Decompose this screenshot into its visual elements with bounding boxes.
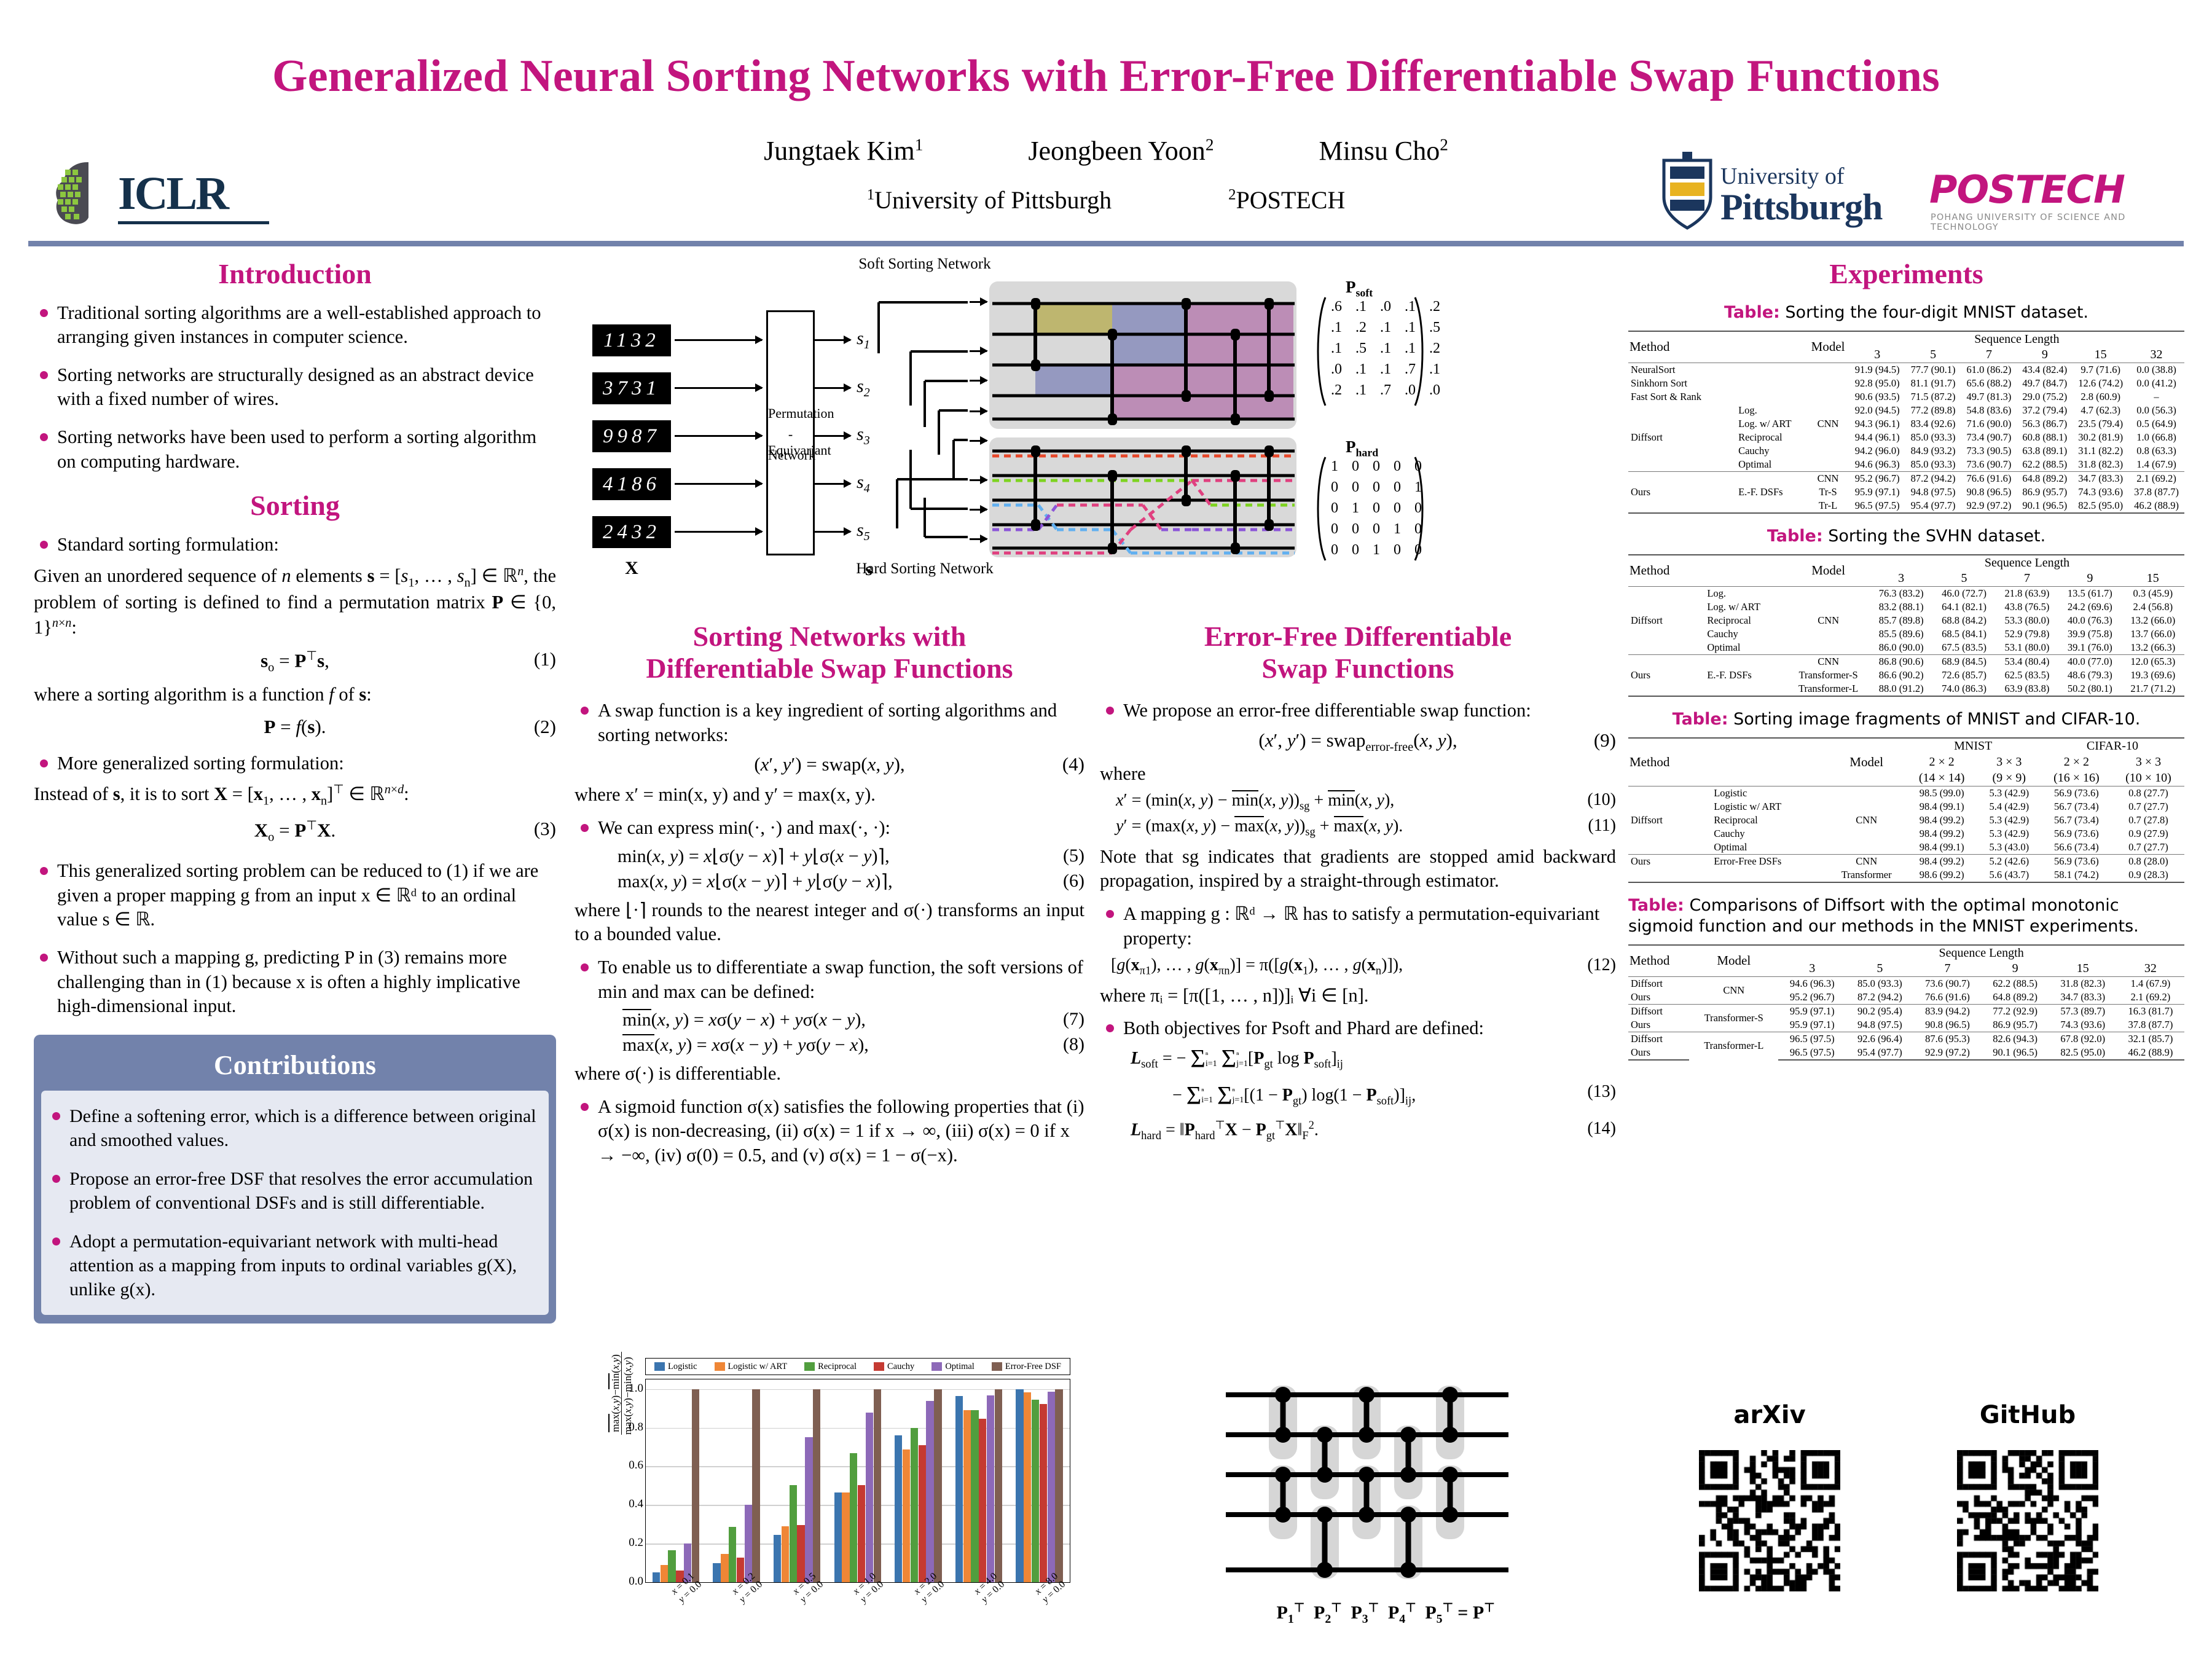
legend-item[interactable]: Logistic w/ ART xyxy=(715,1362,788,1372)
table-cell: 34.7 (83.3) xyxy=(2049,990,2117,1005)
table-row: OursError-Free DSFsCNN98.4 (99.2)5.2 (42… xyxy=(1628,854,2184,868)
list-item: A sigmoid function σ(x) satisfies the fo… xyxy=(575,1095,1084,1168)
table-cell: 46.0 (72.7) xyxy=(1932,586,1995,600)
table-cell: 63.8 (89.1) xyxy=(2017,444,2073,458)
table-cell: 56.9 (73.6) xyxy=(2041,827,2112,841)
bar xyxy=(911,1428,918,1582)
table-cell: 24.2 (69.6) xyxy=(2058,600,2121,614)
table-cell: 87.6 (95.3) xyxy=(1913,1032,1981,1046)
architecture-diagram: Soft Sorting Network Hard Sorting Networ… xyxy=(584,264,1505,584)
equation-13-number: (13) xyxy=(1587,1081,1616,1102)
equation-6-number: (6) xyxy=(1063,871,1084,892)
table-row: Cauchy85.5 (89.6)68.5 (84.1)52.9 (79.8)3… xyxy=(1628,627,2184,641)
table-subheader-row-2: (14 × 14)(9 × 9)(16 × 16)(10 × 10) xyxy=(1628,771,2184,786)
author-1-sup: 1 xyxy=(915,135,924,154)
input-image-1: 1132 xyxy=(592,324,671,356)
equation-10: x′ = (min(x, y) − min(x, y))sg + min(x, … xyxy=(1100,790,1616,813)
equation-1: so = P⊤s, (1) xyxy=(34,648,556,675)
bar xyxy=(874,1389,881,1582)
table-cell: (16 × 16) xyxy=(2041,771,2112,786)
table-cell: 49.7 (81.3) xyxy=(1961,390,2017,404)
table-cell: Diffsort xyxy=(1628,1032,1689,1046)
y-axis-tick: 0.6 xyxy=(629,1459,643,1472)
sorting-network-decomposition-diagram: P1⊤ P2⊤ P3⊤ P4⊤ P5⊤ = P⊤ xyxy=(1220,1373,1551,1631)
score-var-3: s3 xyxy=(857,424,870,448)
arrow-route-5 xyxy=(970,440,987,442)
bar xyxy=(692,1389,699,1582)
table4-caption: Table: Comparisons of Diffsort with the … xyxy=(1628,895,2184,937)
arrow-input-2 xyxy=(675,387,762,389)
table-cell: 86.9 (95.7) xyxy=(2017,485,2073,499)
table-cell xyxy=(1628,827,1692,841)
bar xyxy=(963,1410,971,1582)
matrix-cell: 0 xyxy=(1345,539,1366,560)
table-cell xyxy=(1827,827,1906,841)
table-cell: 12.0 (65.3) xyxy=(2122,654,2184,669)
table-cell: Reciprocal xyxy=(1685,614,1787,627)
table-cell xyxy=(1692,771,1827,786)
table-cell xyxy=(1628,868,1692,882)
table-cell: 58.1 (74.2) xyxy=(2041,868,2112,882)
soft-network-graphic xyxy=(989,281,1296,429)
postech-tagline: POHANG UNIVERSITY OF SCIENCE AND TECHNOL… xyxy=(1931,213,2187,232)
list-item: Without such a mapping g, predicting P i… xyxy=(34,946,556,1019)
table-cell: Cauchy xyxy=(1692,827,1827,841)
arxiv-label: arXiv xyxy=(1647,1401,1892,1429)
introduction-bullets: Traditional sorting algorithms are a wel… xyxy=(34,301,556,474)
table-cell xyxy=(1716,331,1806,363)
matrix-cell: 0 xyxy=(1324,498,1345,519)
table-cell xyxy=(1806,444,1849,458)
table-row: Optimal94.6 (96.3)85.0 (93.3)73.6 (90.7)… xyxy=(1628,458,2184,472)
legend-item[interactable]: Cauchy xyxy=(874,1362,914,1372)
matrix-cell: 0 xyxy=(1324,477,1345,498)
equation-4: (x′, y′) = swap(x, y), (4) xyxy=(575,753,1084,775)
table-header-row: MNISTCIFAR-10 xyxy=(1628,738,2184,754)
table-cell: (14 × 14) xyxy=(1906,771,1978,786)
legend-item[interactable]: Logistic xyxy=(654,1362,697,1372)
contributions-heading: Contributions xyxy=(41,1042,549,1091)
table-cell: 56.3 (86.7) xyxy=(2017,417,2073,431)
table-cell: 73.6 (90.7) xyxy=(1961,458,2017,472)
contributions-inner: Define a softening error, which is a dif… xyxy=(41,1091,549,1315)
table-cell: CNN xyxy=(1806,471,1849,485)
table-cell: 72.6 (85.7) xyxy=(1932,669,1995,682)
table-row: Log. w/ ART83.2 (88.1)64.1 (82.1)43.8 (7… xyxy=(1628,600,2184,614)
table-cell: 34.7 (83.3) xyxy=(2073,471,2128,485)
table-cell: 15 xyxy=(2049,961,2117,977)
table-cell: 85.0 (93.3) xyxy=(1905,458,1961,472)
table-cell: 0.9 (28.3) xyxy=(2112,868,2184,882)
table-row: Logistic w/ ART98.4 (99.1)5.4 (42.9)56.7… xyxy=(1628,800,2184,814)
table-cell: 53.3 (80.0) xyxy=(1996,614,2058,627)
section-heading-introduction: Introduction xyxy=(34,258,556,290)
sorting-paragraph-1: Given an unordered sequence of n element… xyxy=(34,563,556,640)
postech-logo: POSTECH POHANG UNIVERSITY OF SCIENCE AND… xyxy=(1929,167,2187,231)
table-cell xyxy=(1787,627,1870,641)
snw-bullet-3: To enable us to differentiate a swap fun… xyxy=(575,955,1084,1004)
table-cell: 39.1 (76.0) xyxy=(2058,641,2121,655)
table-cell: 74.0 (86.3) xyxy=(1932,682,1995,696)
table-cell xyxy=(1628,786,1692,800)
matrix-cell: .1 xyxy=(1373,317,1398,338)
table3-caption: Table: Sorting image fragments of MNIST … xyxy=(1628,709,2184,730)
table-cell: 5 xyxy=(1905,347,1961,363)
table-cell: 23.5 (79.4) xyxy=(2073,417,2128,431)
input-label-X: X xyxy=(592,558,671,579)
table-row: DiffsortCNN94.6 (96.3)85.0 (93.3)73.6 (9… xyxy=(1628,976,2184,990)
arxiv-qr-code[interactable] xyxy=(1699,1450,1840,1591)
table-cell: 5 xyxy=(1846,961,1913,977)
table-cell: 3 × 3 xyxy=(1978,754,2041,771)
legend-item[interactable]: Reciprocal xyxy=(804,1362,857,1372)
table-cell: Ours xyxy=(1628,1046,1689,1060)
table-cell: 77.2 (89.8) xyxy=(1905,404,1961,417)
table-header-row: MethodModelSequence Length xyxy=(1628,555,2184,571)
author-2: Jeongbeen Yoon2 xyxy=(1028,135,1214,167)
header-divider xyxy=(28,241,2184,246)
legend-label: Error-Free DSF xyxy=(1005,1362,1061,1372)
table-cell: 9 xyxy=(2017,347,2073,363)
table-cell: 56.9 (73.6) xyxy=(2041,786,2112,800)
matrix-cell: 0 xyxy=(1387,456,1408,477)
legend-swatch xyxy=(715,1362,725,1371)
table-cell xyxy=(1685,555,1787,587)
table-cell xyxy=(1806,377,1849,390)
table-cell: 95.4 (97.7) xyxy=(1905,499,1961,513)
table-cell: CNN xyxy=(1787,614,1870,627)
table-cell: 13.2 (66.3) xyxy=(2122,641,2184,655)
sorting-bullets-2: This generalized sorting problem can be … xyxy=(34,859,556,1019)
table-cell: 13.5 (61.7) xyxy=(2058,586,2121,600)
bar xyxy=(661,1565,668,1582)
table-cell: 32.1 (85.7) xyxy=(2117,1032,2184,1046)
table-cell: Diffsort xyxy=(1628,1004,1689,1018)
table-row: Cauchy94.2 (96.0)84.9 (93.2)73.3 (90.5)6… xyxy=(1628,444,2184,458)
table-cell: 21.8 (63.9) xyxy=(1996,586,2058,600)
table-cell: 9.7 (71.6) xyxy=(2073,363,2128,377)
table-row: Transformer-L88.0 (91.2)74.0 (86.3)63.9 … xyxy=(1628,682,2184,696)
table-cell: 5.3 (42.9) xyxy=(1978,786,2041,800)
table-cell: 63.9 (83.8) xyxy=(1996,682,2058,696)
table-cell: 94.6 (96.3) xyxy=(1778,976,1846,990)
list-item: Propose an error-free DSF that resolves … xyxy=(46,1167,536,1215)
table-cell: 50.2 (80.1) xyxy=(2058,682,2121,696)
table-cell xyxy=(1716,363,1806,377)
table-cell: 40.0 (77.0) xyxy=(2058,654,2121,669)
arrow-score-1 xyxy=(814,339,850,341)
table-cell xyxy=(1806,363,1849,377)
table-cell: 3 xyxy=(1778,961,1846,977)
matrix-row: .6.1.0.1.2 xyxy=(1324,296,1447,317)
table-cell: 73.6 (90.7) xyxy=(1913,976,1981,990)
table-cell: 5.2 (42.6) xyxy=(1978,854,2041,868)
table-diffsort-comparison: MethodModelSequence Length35791532Diffso… xyxy=(1628,944,2184,1061)
sorting-network-graphic xyxy=(1220,1373,1551,1594)
table-cell: 32 xyxy=(2117,961,2184,977)
table-row: DiffsortReciprocalCNN98.4 (99.2)5.3 (42.… xyxy=(1628,814,2184,827)
table-cell: 31.8 (82.3) xyxy=(2073,458,2128,472)
bar xyxy=(1055,1389,1062,1582)
bar xyxy=(955,1396,963,1582)
bar xyxy=(774,1535,781,1582)
author-3: Minsu Cho2 xyxy=(1319,135,1448,167)
legend-swatch xyxy=(992,1362,1002,1371)
input-image-2: 3731 xyxy=(592,372,671,404)
table-cell xyxy=(1628,800,1692,814)
table-cell: 31.8 (82.3) xyxy=(2049,976,2117,990)
equation-4-number: (4) xyxy=(1062,753,1084,775)
table-cell: 67.8 (92.0) xyxy=(2049,1032,2117,1046)
ef-bullet-1: We propose an error-free differentiable … xyxy=(1100,699,1616,723)
matrix-cell: 0 xyxy=(1387,498,1408,519)
table-cell: Sequence Length xyxy=(1849,331,2184,347)
arrow-input-5 xyxy=(675,531,762,533)
matrix-cell: .2 xyxy=(1422,296,1447,317)
matrix-cell: .1 xyxy=(1373,338,1398,359)
bar xyxy=(721,1554,728,1583)
table-row: Log.92.0 (94.5)77.2 (89.8)54.8 (83.6)37.… xyxy=(1628,404,2184,417)
pitt-line2: Pittsburgh xyxy=(1720,186,1882,229)
equation-5-number: (5) xyxy=(1063,845,1084,866)
list-item: Both objectives for Psoft and Phard are … xyxy=(1100,1016,1616,1041)
bar xyxy=(987,1395,994,1582)
matrix-cell: .6 xyxy=(1324,296,1349,317)
equation-14-number: (14) xyxy=(1587,1119,1616,1139)
legend-label: Logistic w/ ART xyxy=(728,1362,788,1372)
matrix-cell: 0 xyxy=(1324,539,1345,560)
table-cell: 92.9 (97.2) xyxy=(1913,1046,1981,1060)
table-cell: 98.5 (99.0) xyxy=(1906,786,1978,800)
table-cell: 95.9 (97.1) xyxy=(1778,1018,1846,1032)
bar xyxy=(1024,1392,1031,1582)
table-cell: 2.8 (60.9) xyxy=(2073,390,2128,404)
matrix-cell: 0 xyxy=(1408,456,1429,477)
table-cell xyxy=(1716,377,1806,390)
equation-7-number: (7) xyxy=(1063,1009,1084,1030)
matrix-cell: 0 xyxy=(1408,539,1429,560)
legend-item[interactable]: Optimal xyxy=(931,1362,975,1372)
legend-swatch xyxy=(804,1362,815,1371)
softening-error-bar-chart: LogisticLogistic w/ ARTReciprocalCauchyO… xyxy=(611,1358,1078,1634)
table-cell: 83.2 (88.1) xyxy=(1870,600,1932,614)
table-row: CNN86.8 (90.6)68.9 (84.5)53.4 (80.4)40.0… xyxy=(1628,654,2184,669)
table-cell: 92.8 (95.0) xyxy=(1849,377,1905,390)
table-cell: Tr-S xyxy=(1806,485,1849,499)
matrix-cell: .0 xyxy=(1422,380,1447,401)
table-cell: Transformer-S xyxy=(1787,669,1870,682)
table-cell: (9 × 9) xyxy=(1978,771,2041,786)
list-item: Standard sorting formulation: xyxy=(34,533,556,557)
table-cell: 0.0 (38.8) xyxy=(2128,363,2184,377)
pitt-shield-icon xyxy=(1659,152,1716,230)
y-axis-tick: 0.0 xyxy=(629,1575,643,1588)
table-row: NeuralSort91.9 (94.5)77.7 (90.1)61.0 (86… xyxy=(1628,363,2184,377)
table-cell: 5.3 (42.9) xyxy=(1978,814,2041,827)
table-cell: 43.4 (82.4) xyxy=(2017,363,2073,377)
table-cell: Model xyxy=(1787,555,1870,587)
table-cell xyxy=(1628,600,1685,614)
list-item: We propose an error-free differentiable … xyxy=(1100,699,1616,723)
table-svhn: MethodModelSequence Length357915Log.76.3… xyxy=(1628,554,2184,697)
github-qr-code[interactable] xyxy=(1957,1450,2098,1591)
matrix-cell: .1 xyxy=(1398,296,1422,317)
table-cell xyxy=(1806,404,1849,417)
table-cell: Method xyxy=(1628,754,1692,771)
table-cell xyxy=(1628,738,1906,754)
table-cell: 13.2 (66.0) xyxy=(2122,614,2184,627)
matrix-row: 00010 xyxy=(1324,519,1429,539)
pen-line-3: Network xyxy=(768,447,813,463)
matrix-cell: .5 xyxy=(1349,338,1373,359)
matrix-row: .1.5.1.1.2 xyxy=(1324,338,1447,359)
table-row: Tr-L96.5 (97.5)95.4 (97.7)92.9 (97.2)90.… xyxy=(1628,499,2184,513)
bar xyxy=(919,1445,926,1582)
table-cell: 0.3 (45.9) xyxy=(2122,586,2184,600)
table-cell: 0.7 (27.8) xyxy=(2112,814,2184,827)
score-var-5: s5 xyxy=(857,520,870,544)
author-3-sup: 2 xyxy=(1440,135,1448,154)
table-cell: 98.4 (99.1) xyxy=(1906,800,1978,814)
table-cell: 95.9 (97.1) xyxy=(1849,485,1905,499)
list-item: Sorting networks have been used to perfo… xyxy=(34,425,556,474)
bar xyxy=(805,1437,812,1582)
ef-bullet-2: A mapping g : ℝᵈ → ℝ has to satisfy a pe… xyxy=(1100,902,1616,951)
arrow-route-1 xyxy=(970,301,987,303)
p-soft-matrix: .6.1.0.1.2.1.2.1.1.5.1.5.1.1.2.0.1.1.7.1… xyxy=(1324,296,1447,401)
table-cell: 48.6 (79.3) xyxy=(2058,669,2121,682)
table-cell: 85.0 (93.3) xyxy=(1846,976,1913,990)
legend-swatch xyxy=(931,1362,942,1371)
table-row: Transformer98.6 (99.2)5.6 (43.7)58.1 (74… xyxy=(1628,868,2184,882)
matrix-cell: .7 xyxy=(1398,359,1422,380)
table4-caption-prefix: Table: xyxy=(1628,896,1684,915)
table-cell xyxy=(1692,868,1827,882)
legend-label: Cauchy xyxy=(887,1362,914,1372)
pitt-logo: University of Pittsburgh xyxy=(1659,157,1917,230)
soft-sorting-network-label: Soft Sorting Network xyxy=(753,256,1097,273)
postech-wordmark: POSTECH xyxy=(1929,167,2125,212)
table-cell: 0.9 (27.9) xyxy=(2112,827,2184,841)
table-cell: 67.5 (83.5) xyxy=(1932,641,1995,655)
table-cell: Model xyxy=(1689,945,1778,977)
table-cell xyxy=(1628,444,1716,458)
table-cell: 86.8 (90.6) xyxy=(1870,654,1932,669)
input-image-3: 9987 xyxy=(592,420,671,452)
chart-y-axis-label: max(x,y)−min(x,y) max(x,y)−min(x,y) xyxy=(608,1410,634,1435)
arrow-route-7 xyxy=(970,509,987,511)
contributions-box: Contributions Define a softening error, … xyxy=(34,1035,556,1324)
table1-caption: Table: Sorting the four-digit MNIST data… xyxy=(1628,302,2184,323)
table-cell xyxy=(1692,754,1827,771)
table-cell xyxy=(1628,771,1692,786)
table-cell xyxy=(1628,682,1685,696)
column-3: Error-Free Differentiable Swap Functions… xyxy=(1100,621,1616,1146)
bar xyxy=(813,1389,820,1582)
table-cell: 68.5 (84.1) xyxy=(1932,627,1995,641)
matrix-cell: .0 xyxy=(1398,380,1422,401)
table-image-fragments: MNISTCIFAR-10MethodModel2 × 23 × 32 × 23… xyxy=(1628,737,2184,883)
table-cell: CNN xyxy=(1787,654,1870,669)
matrix-cell: 1 xyxy=(1345,498,1366,519)
table-cell: 4.7 (62.3) xyxy=(2073,404,2128,417)
table-cell: 5.3 (43.0) xyxy=(1978,841,2041,855)
table-row: DiffsortReciprocalCNN85.7 (89.8)68.8 (84… xyxy=(1628,614,2184,627)
matrix-cell: 1 xyxy=(1408,477,1429,498)
table-cell: 31.1 (82.2) xyxy=(2073,444,2128,458)
matrix-cell: .0 xyxy=(1373,296,1398,317)
page-title: Generalized Neural Sorting Networks with… xyxy=(0,50,2212,103)
score-var-4: s4 xyxy=(857,472,870,496)
arrow-input-3 xyxy=(675,435,762,437)
table-cell: MNIST xyxy=(1906,738,2041,754)
table-cell: 7 xyxy=(1996,571,2058,587)
table-cell: 94.6 (96.3) xyxy=(1849,458,1905,472)
list-item: Adopt a permutation-equivariant network … xyxy=(46,1230,536,1301)
equation-8-number: (8) xyxy=(1063,1034,1084,1055)
table-cell: 85.5 (89.6) xyxy=(1870,627,1932,641)
bar xyxy=(790,1485,797,1582)
table-cell xyxy=(1628,499,1716,513)
matrix-cell: .7 xyxy=(1373,380,1398,401)
legend-item[interactable]: Error-Free DSF xyxy=(992,1362,1061,1372)
table-mnist-four-digit: MethodModelSequence Length35791532Neural… xyxy=(1628,331,2184,514)
table-cell: 94.3 (96.1) xyxy=(1849,417,1905,431)
table-cell: 73.4 (90.7) xyxy=(1961,431,2017,444)
table-cell: 56.7 (73.4) xyxy=(2041,800,2112,814)
table-cell xyxy=(1628,404,1716,417)
poster-header: Generalized Neural Sorting Networks with… xyxy=(0,0,2212,246)
table-cell: 64.8 (89.2) xyxy=(1982,990,2049,1005)
table-cell: 1.4 (67.9) xyxy=(2128,458,2184,472)
section-heading-experiments: Experiments xyxy=(1628,258,2184,290)
section-heading-sorting: Sorting xyxy=(34,490,556,522)
table-cell: 19.3 (69.6) xyxy=(2122,669,2184,682)
table-cell: 94.8 (97.5) xyxy=(1905,485,1961,499)
table-cell: 83.9 (94.2) xyxy=(1913,1004,1981,1018)
table-cell: 90.1 (96.5) xyxy=(2017,499,2073,513)
table-cell xyxy=(1628,841,1692,855)
table-cell: 90.6 (93.5) xyxy=(1849,390,1905,404)
equation-8: max(x, y) = xσ(x − y) + yσ(y − x), (8) xyxy=(575,1034,1084,1056)
table-cell: 0.8 (27.7) xyxy=(2112,786,2184,800)
table-cell: Tr-L xyxy=(1806,499,1849,513)
table-cell: CNN xyxy=(1827,854,1906,868)
table-cell: 90.8 (96.5) xyxy=(1961,485,2017,499)
equation-9-number: (9) xyxy=(1594,729,1616,751)
equation-2: P = f(s). (2) xyxy=(34,716,556,738)
list-item: Traditional sorting algorithms are a wel… xyxy=(34,301,556,350)
legend-label: Logistic xyxy=(668,1362,697,1372)
section-heading-ef-dsf: Error-Free Differentiable Swap Functions xyxy=(1100,621,1616,684)
table2-caption-prefix: Table: xyxy=(1767,527,1823,546)
table-cell: Ours xyxy=(1628,485,1716,499)
table-cell: 9 xyxy=(2058,571,2121,587)
equation-11: y′ = (max(x, y) − max(x, y))sg + max(x, … xyxy=(1100,816,1616,839)
author-1: Jungtaek Kim1 xyxy=(764,135,923,167)
table-cell: 3 xyxy=(1849,347,1905,363)
table-cell: 56.6 (73.4) xyxy=(2041,841,2112,855)
arrow-route-2 xyxy=(970,350,987,352)
bar xyxy=(934,1389,941,1582)
table-cell xyxy=(1628,641,1685,655)
bar xyxy=(979,1419,986,1582)
arrow-score-4 xyxy=(814,483,850,485)
affiliation-1: 1University of Pittsburgh xyxy=(867,186,1112,214)
table-cell: 9 xyxy=(1982,961,2049,977)
table-cell: 98.4 (99.1) xyxy=(1906,841,1978,855)
table-cell: 88.0 (91.2) xyxy=(1870,682,1932,696)
